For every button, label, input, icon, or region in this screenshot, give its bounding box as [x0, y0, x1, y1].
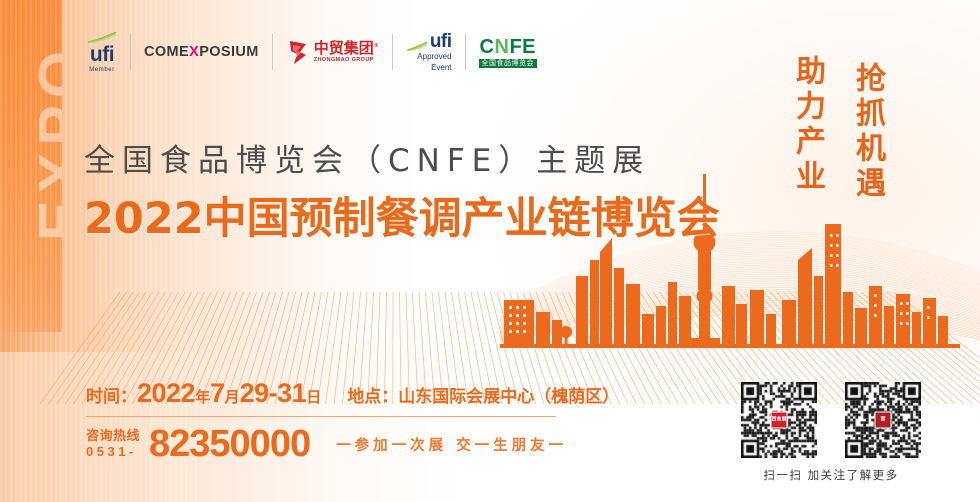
- ufi-approved-sub-line1: Approved: [406, 52, 452, 61]
- logo-cnfe: CNFE 全国食品博览会: [466, 24, 551, 80]
- time-month: 7: [210, 378, 225, 409]
- cnfe-letters-fe: FE: [509, 36, 536, 58]
- hotline-row: 咨询热线 0531- 82350000 一参加一次展 交一生朋友一: [86, 423, 606, 466]
- logo-zhongmao-group: 中贸集团® ZHONGMAO GROUP: [273, 24, 392, 80]
- event-slogan: 一参加一次展 交一生朋友一: [336, 434, 567, 455]
- comexposium-x: X: [189, 44, 199, 60]
- ufi-approved-sub-line2: Event: [406, 63, 452, 72]
- zhongmao-en-name: ZHONGMAO GROUP: [314, 58, 379, 64]
- qr-caption: 扫一扫 加关注了解更多: [726, 467, 936, 483]
- logo-ufi-member: ufi Member: [74, 24, 130, 80]
- partner-logo-strip: ufi Member COMEXPOSIUM 中贸集团® ZHONGMAO GR…: [74, 24, 550, 80]
- cnfe-sub: 全国食品博览会: [479, 59, 538, 68]
- ufi-swoosh-icon: [87, 32, 117, 43]
- qr-code-left-center-label: 西食展: [771, 412, 788, 429]
- zhongmao-cn-name: 中贸集团®: [314, 41, 379, 56]
- hotline-label: 咨询热线: [86, 430, 140, 445]
- comexposium-text-after: POSIUM: [199, 44, 259, 60]
- expo-watermark-text: EXPO: [31, 0, 63, 308]
- vertical-slogan-right: 抢抓机遇: [852, 62, 882, 202]
- logo-ufi-approved-event: ufi Approved Event: [393, 24, 465, 80]
- qr-row: 西食展 官: [726, 382, 936, 458]
- time-label: 时间：: [86, 382, 137, 407]
- cnfe-letter-n: N: [495, 36, 510, 58]
- expo-watermark-column: EXPO: [0, 0, 62, 332]
- page-title-line1: 全国食品博览会（CNFE）主题展: [84, 135, 650, 180]
- time-month-unit: 月: [225, 386, 240, 407]
- cnfe-letter-c: C: [480, 36, 495, 58]
- event-info-block: 时间： 2022 年 7 月 29-31 日 地点：山东国际会展中心（槐荫区） …: [86, 378, 606, 466]
- ufi-member-word: ufi: [90, 44, 114, 65]
- time-days: 29-31: [240, 378, 307, 409]
- comexposium-text-before: COME: [144, 44, 189, 60]
- event-place: 地点：山东国际会展中心（槐荫区）: [347, 382, 619, 407]
- info-divider: [86, 416, 556, 417]
- qr-code-right[interactable]: 官: [845, 382, 921, 458]
- vertical-slogan-left: 助力产业: [792, 55, 822, 195]
- time-year-unit: 年: [195, 386, 210, 407]
- cnfe-word: CNFE: [480, 37, 536, 57]
- time-year: 2022: [137, 378, 195, 409]
- hotline-number[interactable]: 82350000: [149, 423, 310, 466]
- event-datetime-row: 时间： 2022 年 7 月 29-31 日 地点：山东国际会展中心（槐荫区）: [86, 378, 606, 409]
- expo-banner: EXPO: [0, 0, 980, 502]
- hotline-label-group: 咨询热线 0531-: [86, 430, 140, 459]
- hotline-prefix: 0531-: [86, 445, 140, 460]
- ufi-approved-word: ufi: [430, 32, 452, 51]
- page-title-line2: 2022中国预制餐调产业链博览会: [84, 184, 720, 246]
- ufi-approved-swoosh-icon: [406, 42, 428, 51]
- qr-section: 西食展 官 扫一扫 加关注了解更多: [726, 382, 936, 483]
- time-days-unit: 日: [306, 386, 321, 407]
- qr-code-left[interactable]: 西食展: [741, 382, 817, 458]
- zhongmao-registered-mark: ®: [374, 43, 379, 49]
- zhongmao-mark-icon: [286, 39, 310, 65]
- qr-code-right-center-label: 官: [875, 412, 892, 429]
- logo-comexposium: COMEXPOSIUM: [131, 24, 272, 80]
- ufi-member-sub: Member: [89, 67, 115, 73]
